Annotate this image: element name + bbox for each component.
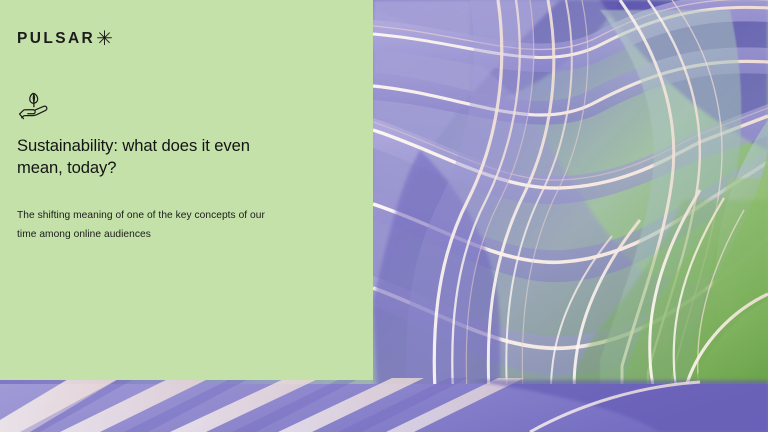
slide-standfirst: The shifting meaning of one of the key c…: [17, 207, 287, 245]
asterisk-icon: ✳: [96, 29, 113, 49]
pulsar-wordmark[interactable]: PULSAR ✳: [17, 28, 113, 49]
hand-holding-sprout-icon: [17, 90, 51, 122]
cover-slide: PULSAR ✳ Sustainability: what does it ev…: [0, 0, 768, 432]
wordmark-text: PULSAR: [17, 31, 95, 47]
content-panel: PULSAR ✳ Sustainability: what does it ev…: [0, 0, 373, 380]
slide-headline: Sustainability: what does it even mean, …: [17, 135, 267, 179]
